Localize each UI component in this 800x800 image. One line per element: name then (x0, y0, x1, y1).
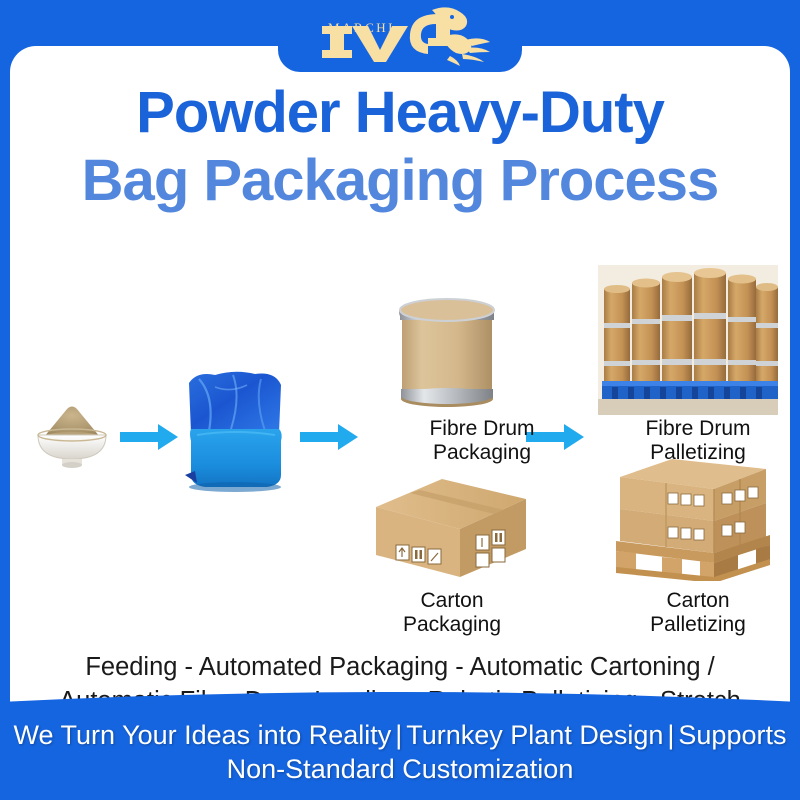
step-image-palletized-cartons (610, 449, 774, 581)
caption-line-2: Packaging (392, 441, 572, 465)
caption-line-2: Packaging (362, 613, 542, 637)
white-canvas: Powder Heavy-Duty Bag Packaging Process (10, 46, 790, 724)
ivg-dragon-icon (300, 6, 500, 66)
title-line-2: Bag Packaging Process (10, 152, 790, 210)
caption-line-1: Fibre Drum (608, 417, 788, 441)
footer-curve-decoration (0, 692, 800, 714)
step-image-carton (368, 473, 534, 585)
footer-divider-1: | (391, 720, 406, 750)
caption-line-1: Fibre Drum (392, 417, 572, 441)
process-diagram: Fibre Drum Packaging Fibre Drum Palletiz… (10, 221, 790, 651)
caption-line-1: Carton (362, 589, 542, 613)
logo-wrap: MARCHI (300, 6, 500, 66)
page-title: Powder Heavy-Duty Bag Packaging Process (10, 84, 790, 210)
infographic-page: Powder Heavy-Duty Bag Packaging Process (0, 0, 800, 800)
title-line-1: Powder Heavy-Duty (10, 84, 790, 142)
step-image-blue-bag (175, 371, 295, 496)
logo-wordmark: MARCHI (328, 20, 395, 36)
caption-carton-packaging: Carton Packaging (362, 589, 542, 636)
step-image-fibre-drum (388, 289, 506, 411)
footer-banner: We Turn Your Ideas into Reality|Turnkey … (0, 704, 800, 800)
footer-part-1: We Turn Your Ideas into Reality (14, 720, 392, 750)
footer-tagline: We Turn Your Ideas into Reality|Turnkey … (0, 718, 800, 786)
process-line-1: Feeding - Automated Packaging - Automati… (24, 651, 776, 685)
brand-logo-tab: MARCHI (278, 0, 522, 72)
caption-line-1: Carton (608, 589, 788, 613)
footer-divider-2: | (663, 720, 678, 750)
footer-part-2: Turnkey Plant Design (406, 720, 663, 750)
step-image-powder (22, 401, 122, 471)
flow-arrow-2 (300, 421, 360, 458)
caption-carton-palletizing: Carton Palletizing (608, 589, 788, 636)
caption-fibre-drum-palletizing: Fibre Drum Palletizing (608, 417, 788, 464)
caption-line-2: Palletizing (608, 613, 788, 637)
caption-line-2: Palletizing (608, 441, 788, 465)
step-image-palletized-fibre-drums (598, 265, 778, 415)
flow-arrow-1 (120, 421, 180, 458)
caption-fibre-drum-packaging: Fibre Drum Packaging (392, 417, 572, 464)
